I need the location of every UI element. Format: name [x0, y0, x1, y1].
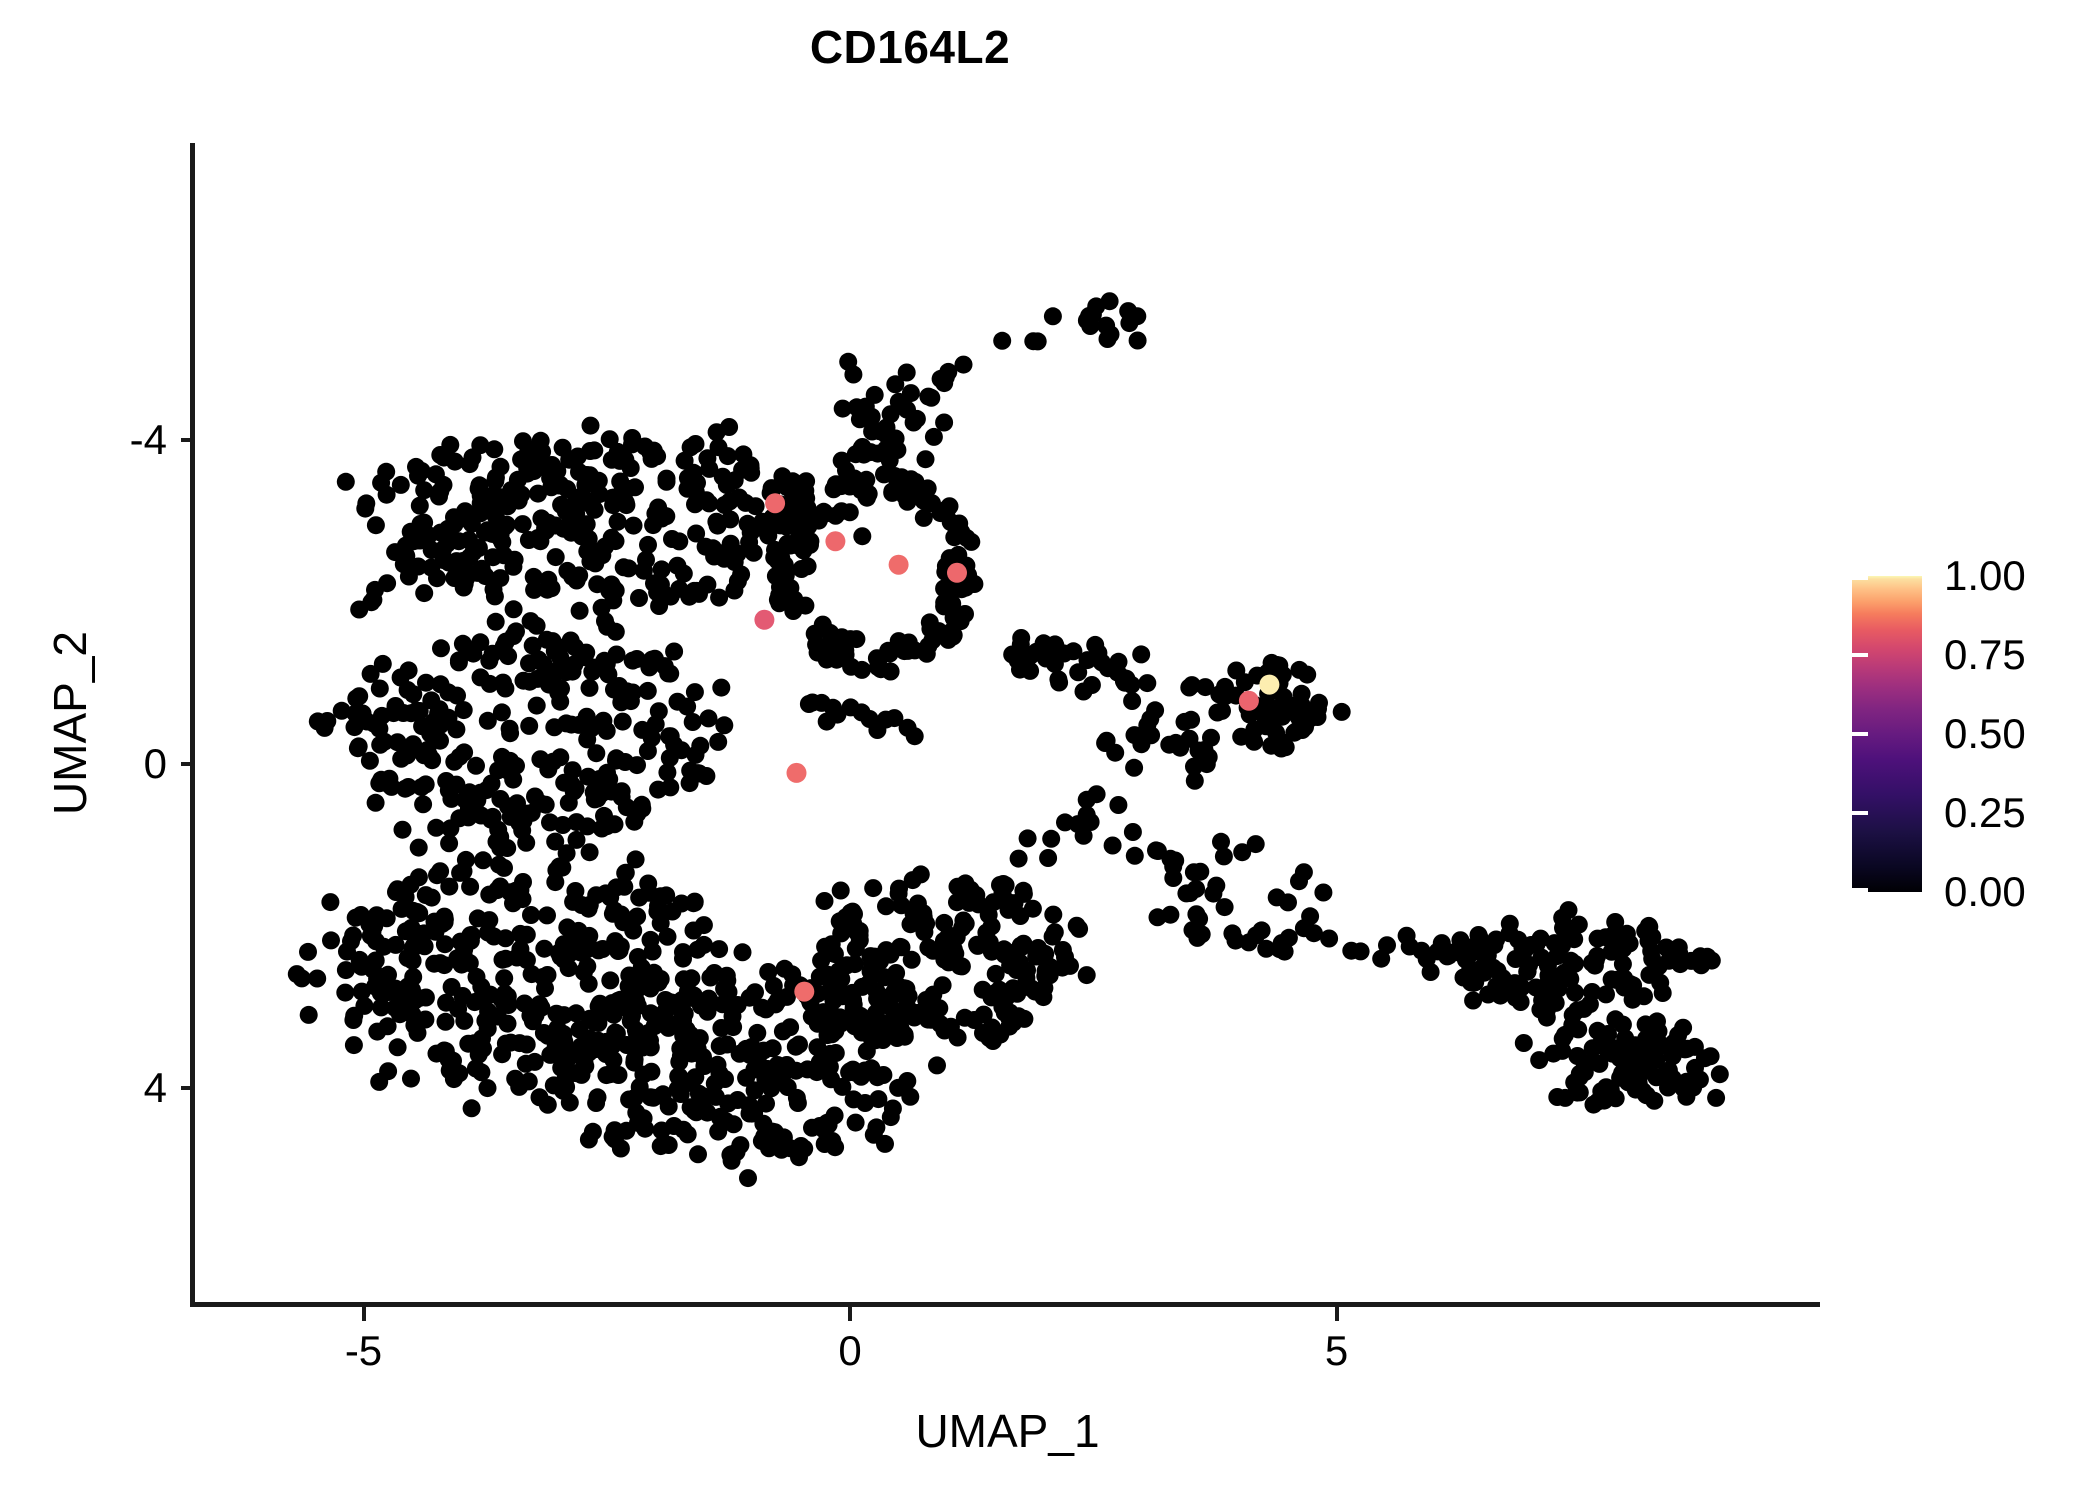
scatter-point [716, 1070, 734, 1088]
scatter-point [422, 691, 440, 709]
scatter-point [1207, 877, 1225, 895]
scatter-point [923, 632, 941, 650]
scatter-point [554, 439, 572, 457]
scatter-point [607, 752, 625, 770]
scatter-point [414, 795, 432, 813]
scatter-point [545, 718, 563, 736]
scatter-point [589, 1088, 607, 1106]
scatter-point [1352, 942, 1370, 960]
scatter-point [1548, 947, 1566, 965]
scatter-point [1064, 642, 1082, 660]
colorbar-tick-label: 0.50 [1944, 713, 2026, 755]
scatter-point [993, 332, 1011, 350]
scatter-point [607, 878, 625, 896]
scatter-point [935, 597, 953, 615]
scatter-point [1213, 702, 1231, 720]
scatter-point [928, 1056, 946, 1074]
scatter-point [1180, 679, 1198, 697]
scatter-point [555, 774, 573, 792]
scatter-point [905, 414, 923, 432]
scatter-point [441, 777, 459, 795]
scatter-point [300, 1006, 318, 1024]
scatter-point [756, 1070, 774, 1088]
scatter-point [709, 1123, 727, 1141]
colorbar-tick-label: 1.00 [1944, 555, 2026, 597]
scatter-point [853, 439, 871, 457]
scatter-point [1223, 924, 1241, 942]
scatter-point [1044, 307, 1062, 325]
scatter-point [288, 965, 306, 983]
scatter-point [639, 536, 657, 554]
scatter-point [1648, 1012, 1666, 1030]
scatter-point [690, 585, 708, 603]
scatter-point [501, 724, 519, 742]
scatter-point [539, 514, 557, 532]
scatter-point [441, 436, 459, 454]
scatter-point [731, 1136, 749, 1154]
scatter-point [356, 500, 374, 518]
scatter-point [603, 529, 621, 547]
scatter-point [531, 1088, 549, 1106]
scatter-point [1378, 936, 1396, 954]
colorbar-tick-label: 0.00 [1944, 871, 2026, 913]
scatter-point [585, 1013, 603, 1031]
scatter-point [413, 778, 431, 796]
scatter-point [994, 875, 1012, 893]
scatter-point [594, 712, 612, 730]
scatter-point [1267, 724, 1285, 742]
scatter-point [833, 502, 851, 520]
scatter-point [453, 956, 471, 974]
scatter-point [536, 979, 554, 997]
scatter-point [1253, 921, 1271, 939]
scatter-point [492, 458, 510, 476]
scatter-point [898, 493, 916, 511]
scatter-point [466, 993, 484, 1011]
scatter-point [816, 892, 834, 910]
scatter-point [322, 931, 340, 949]
scatter-point [839, 353, 857, 371]
y-axis-tick-mark [181, 762, 195, 766]
scatter-point [538, 906, 556, 924]
scatter-point [387, 883, 405, 901]
scatter-point [653, 1122, 671, 1140]
scatter-point [507, 622, 525, 640]
scatter-point [432, 639, 450, 657]
scatter-point [415, 514, 433, 532]
scatter-point [601, 971, 619, 989]
scatter-point [856, 1062, 874, 1080]
scatter-point [472, 1063, 490, 1081]
scatter-point [464, 543, 482, 561]
scatter-point [661, 778, 679, 796]
scatter-point [1029, 332, 1047, 350]
scatter-point [686, 893, 704, 911]
scatter-point [921, 613, 939, 631]
scatter-point [1124, 823, 1142, 841]
scatter-point [776, 960, 794, 978]
scatter-point [582, 417, 600, 435]
scatter-point [957, 915, 975, 933]
scatter-point [488, 833, 506, 851]
scatter-point [606, 1130, 624, 1148]
scatter-point [823, 935, 841, 953]
scatter-point [866, 386, 884, 404]
colorbar-tick-mark [1852, 653, 1868, 657]
scatter-point [551, 693, 569, 711]
scatter-point [1566, 984, 1584, 1002]
scatter-point [842, 698, 860, 716]
scatter-point [700, 709, 718, 727]
scatter-point [644, 943, 662, 961]
scatter-point [1132, 735, 1150, 753]
scatter-point [760, 1139, 778, 1157]
scatter-point [725, 582, 743, 600]
scatter-point [347, 705, 365, 723]
scatter-point [428, 866, 446, 884]
scatter-point [423, 541, 441, 559]
scatter-point [1565, 1073, 1583, 1091]
scatter-point [715, 550, 733, 568]
scatter-point [389, 1038, 407, 1056]
scatter-point [345, 1036, 363, 1054]
scatter-point [547, 548, 565, 566]
scatter-point-expressing [947, 563, 967, 583]
colorbar-tick-mark [2066, 732, 2082, 736]
colorbar-tick-label: 0.25 [1944, 792, 2026, 834]
scatter-point [472, 504, 490, 522]
scatter-point [943, 622, 961, 640]
umap-feature-plot: CD164L2 40-4 -505 UMAP_1 UMAP_2 1.000.75… [0, 0, 2100, 1500]
scatter-point [404, 968, 422, 986]
scatter-point [628, 756, 646, 774]
scatter-point [877, 897, 895, 915]
scatter-point [639, 682, 657, 700]
scatter-point [879, 642, 897, 660]
scatter-point [639, 742, 657, 760]
scatter-point [628, 908, 646, 926]
scatter-point [695, 936, 713, 954]
colorbar-tick-mark [1852, 811, 1868, 815]
scatter-point [840, 1063, 858, 1081]
scatter-point [528, 697, 546, 715]
scatter-point [724, 1007, 742, 1025]
scatter-point [652, 576, 670, 594]
scatter-point [709, 733, 727, 751]
scatter-point [1039, 849, 1057, 867]
scatter-point [710, 940, 728, 958]
scatter-point [646, 650, 664, 668]
scatter-point [1129, 332, 1147, 350]
scatter-point [497, 950, 515, 968]
scatter-point [584, 1123, 602, 1141]
scatter-point [394, 821, 412, 839]
colorbar-tick-mark [1852, 576, 1868, 580]
scatter-point [321, 893, 339, 911]
scatter-point [774, 1022, 792, 1040]
scatter-point [1138, 674, 1156, 692]
scatter-point [342, 932, 360, 950]
scatter-point [670, 532, 688, 550]
scatter-point [686, 683, 704, 701]
scatter-point [1519, 962, 1537, 980]
scatter-point [370, 720, 388, 738]
scatter-point [1049, 670, 1067, 688]
scatter-point [1191, 863, 1209, 881]
scatter-point [1538, 1009, 1556, 1027]
scatter-point [832, 477, 850, 495]
scatter-point [377, 463, 395, 481]
scatter-point [427, 465, 445, 483]
scatter-point [824, 699, 842, 717]
scatter-point [862, 947, 880, 965]
scatter-point [1670, 945, 1688, 963]
scatter-point [479, 712, 497, 730]
scatter-point-expressing [1259, 675, 1279, 695]
scatter-point [1686, 1059, 1704, 1077]
scatter-point [578, 708, 596, 726]
scatter-point-expressing [765, 493, 785, 513]
scatter-point [571, 602, 589, 620]
scatter-point [1703, 952, 1721, 970]
scatter-point [560, 945, 578, 963]
scatter-point [633, 796, 651, 814]
scatter-point [1149, 842, 1167, 860]
scatter-point [614, 713, 632, 731]
scatter-point [425, 955, 443, 973]
scatter-point [472, 807, 490, 825]
x-axis-title: UMAP_1 [195, 1408, 1820, 1454]
scatter-point [1461, 960, 1479, 978]
scatter-point [1088, 785, 1106, 803]
scatter-point [520, 717, 538, 735]
scatter-point [687, 1099, 705, 1117]
colorbar-tick-mark [2066, 576, 2082, 580]
scatter-point [437, 1013, 455, 1031]
scatter-point [581, 843, 599, 861]
scatter-point [336, 984, 354, 1002]
scatter-point [1098, 732, 1116, 750]
scatter-point [1126, 847, 1144, 865]
scatter-point [438, 535, 456, 553]
scatter-point [874, 1015, 892, 1033]
scatter-point [732, 565, 750, 583]
scatter-point [405, 1016, 423, 1034]
scatter-point [396, 780, 414, 798]
scatter-point [586, 659, 604, 677]
scatter-point [1637, 1086, 1655, 1104]
scatter-point [660, 1098, 678, 1116]
scatter-point [410, 868, 428, 886]
scatter-point [451, 748, 469, 766]
scatter-point [461, 455, 479, 473]
x-axis-tick-mark [1335, 1307, 1339, 1321]
scatter-point [900, 987, 918, 1005]
scatter-point [747, 497, 765, 515]
scatter-point [797, 472, 815, 490]
scatter-point [521, 673, 539, 691]
scatter-point [955, 356, 973, 374]
scatter-point [689, 1145, 707, 1163]
scatter-point [1640, 932, 1658, 950]
scatter-point [507, 757, 525, 775]
scatter-point [906, 727, 924, 745]
scatter-point [1001, 1004, 1019, 1022]
scatter-point [1276, 943, 1294, 961]
scatter-point [687, 525, 705, 543]
scatter-point [851, 922, 869, 940]
scatter-point [1093, 653, 1111, 671]
plot-panel [195, 143, 1820, 1302]
scatter-point [869, 1090, 887, 1108]
scatter-point [1161, 906, 1179, 924]
scatter-point [682, 969, 700, 987]
scatter-point [660, 727, 678, 745]
scatter-point [816, 1135, 834, 1153]
scatter-point [560, 794, 578, 812]
scatter-point [483, 524, 501, 542]
scatter-point [1548, 1088, 1566, 1106]
scatter-point [1028, 643, 1046, 661]
scatter-point [1283, 700, 1301, 718]
scatter-point [604, 496, 622, 514]
scatter-point [1515, 1034, 1533, 1052]
scatter-point [581, 679, 599, 697]
scatter-point [821, 970, 839, 988]
scatter-point [902, 915, 920, 933]
scatter-point [524, 637, 542, 655]
scatter-point [1141, 710, 1159, 728]
scatter-point [893, 468, 911, 486]
scatter-point [757, 1095, 775, 1113]
scatter-point [411, 497, 429, 515]
scatter-point [400, 661, 418, 679]
scatter-point [626, 985, 644, 1003]
colorbar-tick-mark [2066, 888, 2082, 892]
scatter-point [522, 612, 540, 630]
scatter-point [1012, 629, 1030, 647]
scatter-point [1309, 700, 1327, 718]
scatter-point [450, 809, 468, 827]
x-axis-tick-mark [848, 1307, 852, 1321]
scatter-point [652, 914, 670, 932]
scatter-point [487, 613, 505, 631]
scatter-point [1216, 898, 1234, 916]
scatter-point [1011, 907, 1029, 925]
scatter-point [502, 808, 520, 826]
scatter-point [362, 927, 380, 945]
scatter-point [1029, 939, 1047, 957]
scatter-point [935, 414, 953, 432]
scatter-point [455, 509, 473, 527]
scatter-point [520, 531, 538, 549]
scatter-point [777, 566, 795, 584]
scatter-point [430, 488, 448, 506]
scatter-point [936, 1022, 954, 1040]
scatter-point [479, 924, 497, 942]
scatter-point [431, 716, 449, 734]
scatter-point [518, 465, 536, 483]
scatter-point [1245, 721, 1263, 739]
scatter-point [669, 1067, 687, 1085]
scatter-point [588, 575, 606, 593]
scatter-point [896, 1028, 914, 1046]
scatter-point [1054, 941, 1072, 959]
scatter-point [890, 880, 908, 898]
colorbar-legend: 1.000.750.500.250.00 [1852, 576, 2082, 896]
scatter-point [905, 1009, 923, 1027]
scatter-point [593, 599, 611, 617]
scatter-point [607, 1029, 625, 1047]
scatter-point [1484, 959, 1502, 977]
scatter-point [1611, 927, 1629, 945]
scatter-point [1561, 920, 1579, 938]
scatter-point [695, 1057, 713, 1075]
scatter-point [1104, 837, 1122, 855]
scatter-point [597, 1066, 615, 1084]
scatter-point [517, 834, 535, 852]
scatter-point [983, 1019, 1001, 1037]
scatter-point [684, 713, 702, 731]
scatter-point [741, 989, 759, 1007]
scatter-point [951, 957, 969, 975]
scatter-point [799, 517, 817, 535]
scatter-point [734, 943, 752, 961]
scatter-point [543, 579, 561, 597]
scatter-point [427, 819, 445, 837]
scatter-point [1584, 1039, 1602, 1057]
scatter-point [1182, 711, 1200, 729]
scatter-point [1019, 829, 1037, 847]
scatter-point [523, 965, 541, 983]
scatter-point [517, 1055, 535, 1073]
scatter-point [589, 790, 607, 808]
scatter-point [398, 746, 416, 764]
scatter-point [627, 1104, 645, 1122]
scatter-point [1290, 872, 1308, 890]
scatter-point [685, 922, 703, 940]
scatter-point [580, 530, 598, 548]
scatter-point [611, 941, 629, 959]
scatter-point [546, 833, 564, 851]
scatter-point [583, 497, 601, 515]
scatter-point [435, 1042, 453, 1060]
scatter-point [568, 831, 586, 849]
scatter-point [1181, 730, 1199, 748]
scatter-point [868, 982, 886, 1000]
scatter-point [580, 975, 598, 993]
scatter-point [464, 645, 482, 663]
scatter-point [686, 495, 704, 513]
scatter-point [1268, 888, 1286, 906]
scatter-point [622, 692, 640, 710]
scatter-svg [195, 143, 1820, 1302]
scatter-point [1285, 724, 1303, 742]
scatter-point [1651, 974, 1669, 992]
scatter-point [745, 544, 763, 562]
scatter-point [392, 476, 410, 494]
scatter-point [739, 515, 757, 533]
scatter-point [1177, 884, 1195, 902]
scatter-point [1635, 987, 1653, 1005]
scatter-point [1298, 666, 1316, 684]
scatter-point [1185, 758, 1203, 776]
scatter-point-expressing [787, 763, 807, 783]
scatter-point [506, 1070, 524, 1088]
scatter-point [396, 544, 414, 562]
scatter-point [544, 753, 562, 771]
scatter-point [865, 1126, 883, 1144]
